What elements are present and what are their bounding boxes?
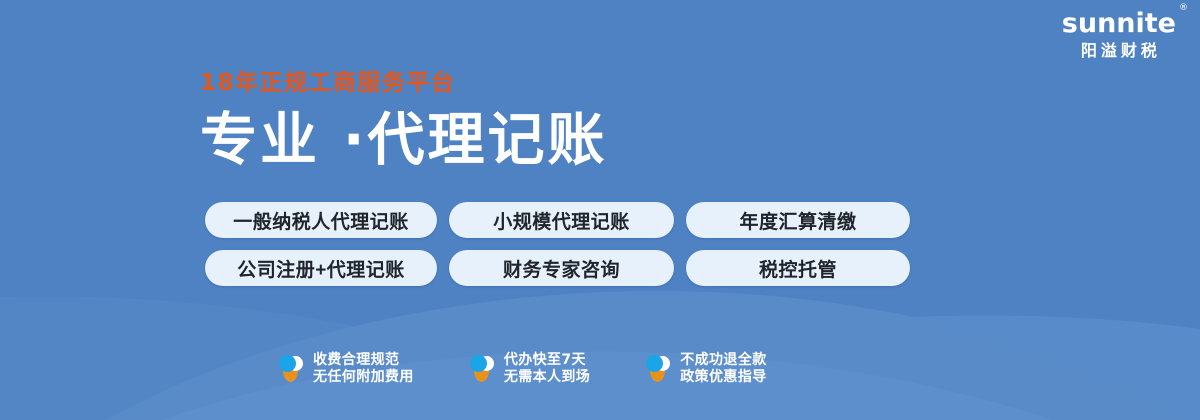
half-circle-drop-icon — [469, 354, 495, 384]
feature-line-2: 无任何附加费用 — [313, 369, 414, 386]
logo-wordmark: sunnite ® — [1062, 10, 1176, 37]
service-pill[interactable]: 税控托管 — [686, 250, 910, 286]
circle-shape — [470, 355, 487, 372]
half-circle-drop-icon — [278, 354, 304, 384]
feature-strip: 收费合理规范 无任何附加费用 代办快至7天 无需本人到场 不成功退全款 — [278, 352, 767, 386]
feature-item: 不成功退全款 政策优惠指导 — [645, 352, 766, 386]
background-wave-left — [0, 269, 607, 420]
feature-line-1: 代办快至7天 — [504, 352, 590, 369]
circle-shape — [279, 355, 296, 372]
feature-line-2: 政策优惠指导 — [680, 369, 766, 386]
feature-text: 代办快至7天 无需本人到场 — [504, 352, 590, 386]
brand-logo[interactable]: sunnite ® 阳溢财税 — [1062, 10, 1176, 60]
half-circle-drop-icon — [645, 354, 671, 384]
feature-line-1: 收费合理规范 — [313, 352, 414, 369]
registered-trademark-icon: ® — [1179, 4, 1188, 13]
feature-item: 代办快至7天 无需本人到场 — [469, 352, 590, 386]
service-pill-grid: 一般纳税人代理记账 小规模代理记账 年度汇算清缴 公司注册+代理记账 财务专家咨… — [205, 202, 910, 286]
service-pill[interactable]: 小规模代理记账 — [449, 202, 674, 238]
feature-text: 收费合理规范 无任何附加费用 — [313, 352, 414, 386]
feature-line-2: 无需本人到场 — [504, 369, 590, 386]
service-pill[interactable]: 公司注册+代理记账 — [205, 250, 437, 286]
logo-wordmark-text: sunnite — [1062, 8, 1176, 39]
hero-headline: 专业 ·代理记账 — [200, 112, 608, 169]
service-pill[interactable]: 年度汇算清缴 — [686, 202, 910, 238]
service-pill[interactable]: 财务专家咨询 — [449, 250, 674, 286]
feature-item: 收费合理规范 无任何附加费用 — [278, 352, 414, 386]
hero-text-block: 18年正规工商服务平台 专业 ·代理记账 — [200, 72, 608, 169]
promotional-banner: sunnite ® 阳溢财税 18年正规工商服务平台 专业 ·代理记账 一般纳税… — [0, 0, 1200, 420]
service-pill[interactable]: 一般纳税人代理记账 — [205, 202, 437, 238]
feature-text: 不成功退全款 政策优惠指导 — [680, 352, 766, 386]
logo-chinese-name: 阳溢财税 — [1062, 44, 1176, 60]
hero-eyebrow: 18年正规工商服务平台 — [200, 72, 608, 95]
feature-line-1: 不成功退全款 — [680, 352, 766, 369]
